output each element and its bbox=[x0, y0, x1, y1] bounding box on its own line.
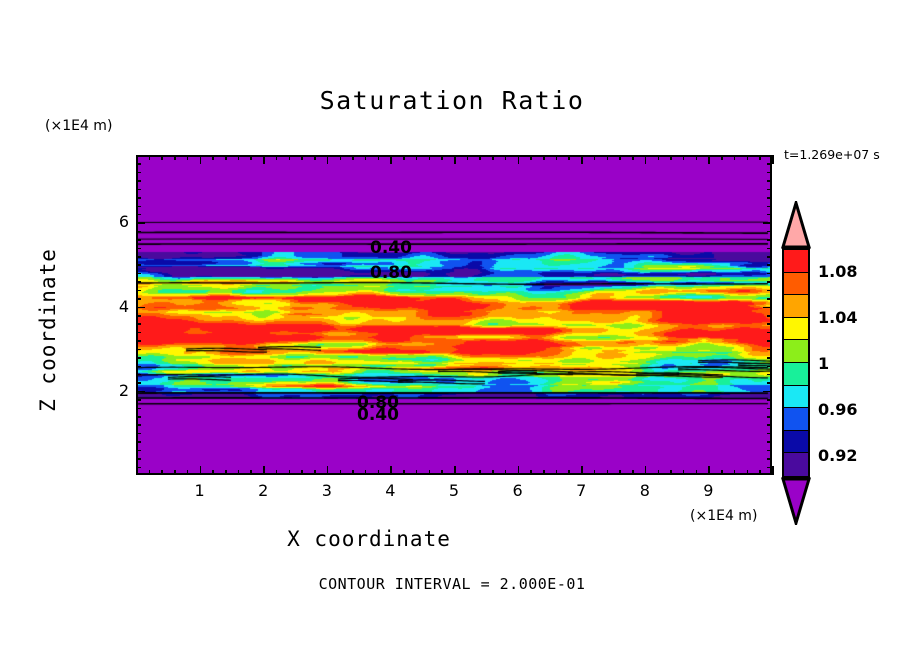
tick-mark bbox=[767, 467, 772, 469]
tick-mark bbox=[161, 470, 163, 475]
tick-mark bbox=[747, 470, 749, 475]
tick-mark bbox=[454, 466, 456, 475]
x-tick-label: 3 bbox=[312, 481, 342, 500]
tick-mark bbox=[136, 273, 141, 275]
tick-mark bbox=[136, 391, 145, 393]
colorbar-label: 1 bbox=[818, 354, 829, 373]
tick-mark bbox=[645, 466, 647, 475]
contour-interval-note: CONTOUR INTERVAL = 2.000E-01 bbox=[0, 575, 904, 593]
tick-mark bbox=[263, 155, 265, 164]
tick-mark bbox=[403, 470, 405, 475]
colorbar-band-orange-red bbox=[784, 273, 808, 296]
tick-mark bbox=[763, 222, 772, 224]
tick-mark bbox=[607, 155, 609, 160]
x-tick-label: 1 bbox=[185, 481, 215, 500]
tick-mark bbox=[136, 256, 141, 258]
tick-mark bbox=[708, 466, 710, 475]
tick-mark bbox=[556, 155, 558, 160]
tick-mark bbox=[767, 172, 772, 174]
colorbar-band-orange bbox=[784, 295, 808, 318]
x-tick-label: 2 bbox=[248, 481, 278, 500]
tick-mark bbox=[763, 391, 772, 393]
tick-mark bbox=[225, 470, 227, 475]
tick-mark bbox=[767, 424, 772, 426]
tick-mark bbox=[767, 340, 772, 342]
tick-mark bbox=[390, 466, 392, 475]
tick-mark bbox=[530, 470, 532, 475]
tick-mark bbox=[721, 470, 723, 475]
x-tick-label: 4 bbox=[375, 481, 405, 500]
contour-value-label: 0.40 bbox=[357, 405, 399, 425]
colorbar-label: 1.08 bbox=[818, 262, 857, 281]
tick-mark bbox=[136, 163, 141, 165]
tick-mark bbox=[136, 408, 141, 410]
tick-mark bbox=[136, 315, 141, 317]
page-title: Saturation Ratio bbox=[0, 86, 904, 115]
tick-mark bbox=[136, 222, 145, 224]
tick-mark bbox=[479, 470, 481, 475]
tick-mark bbox=[767, 256, 772, 258]
y-tick-label: 2 bbox=[99, 381, 129, 400]
tick-mark bbox=[696, 470, 698, 475]
tick-mark bbox=[759, 155, 761, 160]
tick-mark bbox=[365, 470, 367, 475]
tick-mark bbox=[136, 433, 141, 435]
tick-mark bbox=[581, 155, 583, 164]
tick-mark bbox=[767, 366, 772, 368]
saturation-ratio-field bbox=[138, 157, 770, 473]
y-tick-label: 4 bbox=[99, 297, 129, 316]
tick-mark bbox=[767, 206, 772, 208]
tick-mark bbox=[767, 399, 772, 401]
tick-mark bbox=[136, 374, 141, 376]
tick-mark bbox=[767, 441, 772, 443]
tick-mark bbox=[772, 155, 774, 164]
tick-mark bbox=[568, 470, 570, 475]
contour-value-label: 0.80 bbox=[370, 263, 412, 283]
tick-mark bbox=[136, 349, 141, 351]
tick-mark bbox=[632, 470, 634, 475]
tick-mark bbox=[767, 214, 772, 216]
tick-mark bbox=[136, 172, 141, 174]
tick-mark bbox=[136, 441, 141, 443]
colorbar[interactable] bbox=[782, 248, 810, 478]
tick-mark bbox=[632, 155, 634, 160]
tick-mark bbox=[340, 470, 342, 475]
tick-mark bbox=[187, 470, 189, 475]
tick-mark bbox=[136, 239, 141, 241]
tick-mark bbox=[441, 155, 443, 160]
tick-mark bbox=[505, 470, 507, 475]
x-tick-label: 7 bbox=[566, 481, 596, 500]
tick-mark bbox=[763, 307, 772, 309]
tick-mark bbox=[352, 155, 354, 160]
colorbar-band-blue bbox=[784, 408, 808, 431]
tick-mark bbox=[581, 466, 583, 475]
x-axis-title: X coordinate bbox=[0, 527, 738, 551]
y-axis-unit-label: (×1E4 m) bbox=[45, 118, 112, 134]
tick-mark bbox=[276, 470, 278, 475]
tick-mark bbox=[530, 155, 532, 160]
tick-mark bbox=[136, 298, 141, 300]
tick-mark bbox=[212, 470, 214, 475]
tick-mark bbox=[136, 357, 141, 359]
x-tick-label: 9 bbox=[693, 481, 723, 500]
tick-mark bbox=[594, 155, 596, 160]
tick-mark bbox=[250, 155, 252, 160]
tick-mark bbox=[767, 382, 772, 384]
tick-mark bbox=[767, 180, 772, 182]
tick-mark bbox=[340, 155, 342, 160]
tick-mark bbox=[767, 357, 772, 359]
tick-mark bbox=[289, 155, 291, 160]
tick-mark bbox=[708, 155, 710, 164]
tick-mark bbox=[767, 374, 772, 376]
tick-mark bbox=[225, 155, 227, 160]
tick-mark bbox=[416, 155, 418, 160]
tick-mark bbox=[174, 155, 176, 160]
x-tick-label: 5 bbox=[439, 481, 469, 500]
colorbar-band-red bbox=[784, 250, 808, 273]
tick-mark bbox=[454, 155, 456, 164]
colorbar-band-violet bbox=[784, 453, 808, 476]
tick-mark bbox=[429, 470, 431, 475]
tick-mark bbox=[136, 450, 141, 452]
tick-mark bbox=[505, 155, 507, 160]
tick-mark bbox=[149, 470, 151, 475]
colorbar-band-spring-green bbox=[784, 363, 808, 386]
tick-mark bbox=[767, 197, 772, 199]
tick-mark bbox=[767, 332, 772, 334]
tick-mark bbox=[759, 470, 761, 475]
tick-mark bbox=[670, 470, 672, 475]
tick-mark bbox=[767, 458, 772, 460]
y-tick-label: 6 bbox=[99, 212, 129, 231]
colorbar-band-yellow bbox=[784, 318, 808, 341]
tick-mark bbox=[767, 290, 772, 292]
tick-mark bbox=[314, 155, 316, 160]
tick-mark bbox=[136, 307, 145, 309]
tick-mark bbox=[767, 349, 772, 351]
tick-mark bbox=[289, 470, 291, 475]
tick-mark bbox=[543, 155, 545, 160]
tick-mark bbox=[767, 273, 772, 275]
tick-mark bbox=[416, 470, 418, 475]
tick-mark bbox=[136, 281, 141, 283]
tick-mark bbox=[767, 315, 772, 317]
tick-mark bbox=[696, 155, 698, 160]
tick-mark bbox=[767, 239, 772, 241]
tick-mark bbox=[365, 155, 367, 160]
tick-mark bbox=[136, 416, 141, 418]
tick-mark bbox=[670, 155, 672, 160]
tick-mark bbox=[683, 470, 685, 475]
tick-mark bbox=[136, 206, 141, 208]
tick-mark bbox=[429, 155, 431, 160]
colorbar-label: 1.04 bbox=[818, 308, 857, 327]
tick-mark bbox=[767, 323, 772, 325]
tick-mark bbox=[136, 467, 141, 469]
tick-mark bbox=[767, 231, 772, 233]
tick-mark bbox=[767, 163, 772, 165]
tick-mark bbox=[556, 470, 558, 475]
tick-mark bbox=[403, 155, 405, 160]
tick-mark bbox=[136, 197, 141, 199]
tick-mark bbox=[212, 155, 214, 160]
tick-mark bbox=[518, 155, 520, 164]
tick-mark bbox=[767, 189, 772, 191]
tick-mark bbox=[187, 155, 189, 160]
time-annotation: t=1.269e+07 s bbox=[784, 147, 880, 162]
tick-mark bbox=[136, 231, 141, 233]
tick-mark bbox=[136, 264, 141, 266]
tick-mark bbox=[250, 470, 252, 475]
x-tick-label: 6 bbox=[503, 481, 533, 500]
tick-mark bbox=[492, 470, 494, 475]
tick-mark bbox=[683, 155, 685, 160]
x-tick-label: 8 bbox=[630, 481, 660, 500]
x-axis-unit-label: (×1E4 m) bbox=[690, 508, 757, 524]
tick-mark bbox=[767, 416, 772, 418]
tick-mark bbox=[276, 155, 278, 160]
colorbar-band-navy bbox=[784, 431, 808, 454]
tick-mark bbox=[467, 470, 469, 475]
colorbar-label: 0.92 bbox=[818, 446, 857, 465]
tick-mark bbox=[767, 264, 772, 266]
tick-mark bbox=[441, 470, 443, 475]
tick-mark bbox=[314, 470, 316, 475]
tick-mark bbox=[136, 458, 141, 460]
tick-mark bbox=[767, 408, 772, 410]
tick-mark bbox=[136, 248, 141, 250]
tick-mark bbox=[378, 155, 380, 160]
tick-mark bbox=[767, 433, 772, 435]
tick-mark bbox=[734, 155, 736, 160]
tick-mark bbox=[518, 466, 520, 475]
tick-mark bbox=[136, 189, 141, 191]
tick-mark bbox=[645, 155, 647, 164]
tick-mark bbox=[136, 399, 141, 401]
tick-mark bbox=[136, 323, 141, 325]
tick-mark bbox=[658, 470, 660, 475]
tick-mark bbox=[327, 155, 329, 164]
tick-mark bbox=[301, 155, 303, 160]
tick-mark bbox=[352, 470, 354, 475]
tick-mark bbox=[747, 155, 749, 160]
colorbar-band-cyan bbox=[784, 386, 808, 409]
tick-mark bbox=[772, 466, 774, 475]
tick-mark bbox=[658, 155, 660, 160]
tick-mark bbox=[136, 180, 141, 182]
tick-mark bbox=[238, 155, 240, 160]
tick-mark bbox=[327, 466, 329, 475]
tick-mark bbox=[301, 470, 303, 475]
tick-mark bbox=[734, 470, 736, 475]
contour-value-label: 0.40 bbox=[370, 238, 412, 258]
colorbar-band-yellow-green bbox=[784, 340, 808, 363]
tick-mark bbox=[136, 332, 141, 334]
tick-mark bbox=[492, 155, 494, 160]
tick-mark bbox=[136, 214, 141, 216]
tick-mark bbox=[767, 298, 772, 300]
tick-mark bbox=[543, 470, 545, 475]
tick-mark bbox=[607, 470, 609, 475]
tick-mark bbox=[467, 155, 469, 160]
tick-mark bbox=[568, 155, 570, 160]
tick-mark bbox=[149, 155, 151, 160]
tick-mark bbox=[200, 466, 202, 475]
tick-mark bbox=[619, 470, 621, 475]
tick-mark bbox=[594, 470, 596, 475]
tick-mark bbox=[390, 155, 392, 164]
tick-mark bbox=[136, 366, 141, 368]
tick-mark bbox=[136, 290, 141, 292]
tick-mark bbox=[721, 155, 723, 160]
tick-mark bbox=[161, 155, 163, 160]
tick-mark bbox=[479, 155, 481, 160]
tick-mark bbox=[767, 450, 772, 452]
tick-mark bbox=[767, 248, 772, 250]
tick-mark bbox=[136, 340, 141, 342]
tick-mark bbox=[174, 470, 176, 475]
tick-mark bbox=[767, 281, 772, 283]
colorbar-bottom-cap-icon bbox=[780, 477, 812, 525]
colorbar-label: 0.96 bbox=[818, 400, 857, 419]
tick-mark bbox=[200, 155, 202, 164]
tick-mark bbox=[263, 466, 265, 475]
y-axis-title: Z coordinate bbox=[36, 220, 60, 440]
tick-mark bbox=[136, 382, 141, 384]
tick-mark bbox=[238, 470, 240, 475]
contour-plot-area[interactable] bbox=[136, 155, 772, 475]
colorbar-top-cap-icon bbox=[780, 201, 812, 249]
tick-mark bbox=[136, 424, 141, 426]
tick-mark bbox=[378, 470, 380, 475]
tick-mark bbox=[619, 155, 621, 160]
